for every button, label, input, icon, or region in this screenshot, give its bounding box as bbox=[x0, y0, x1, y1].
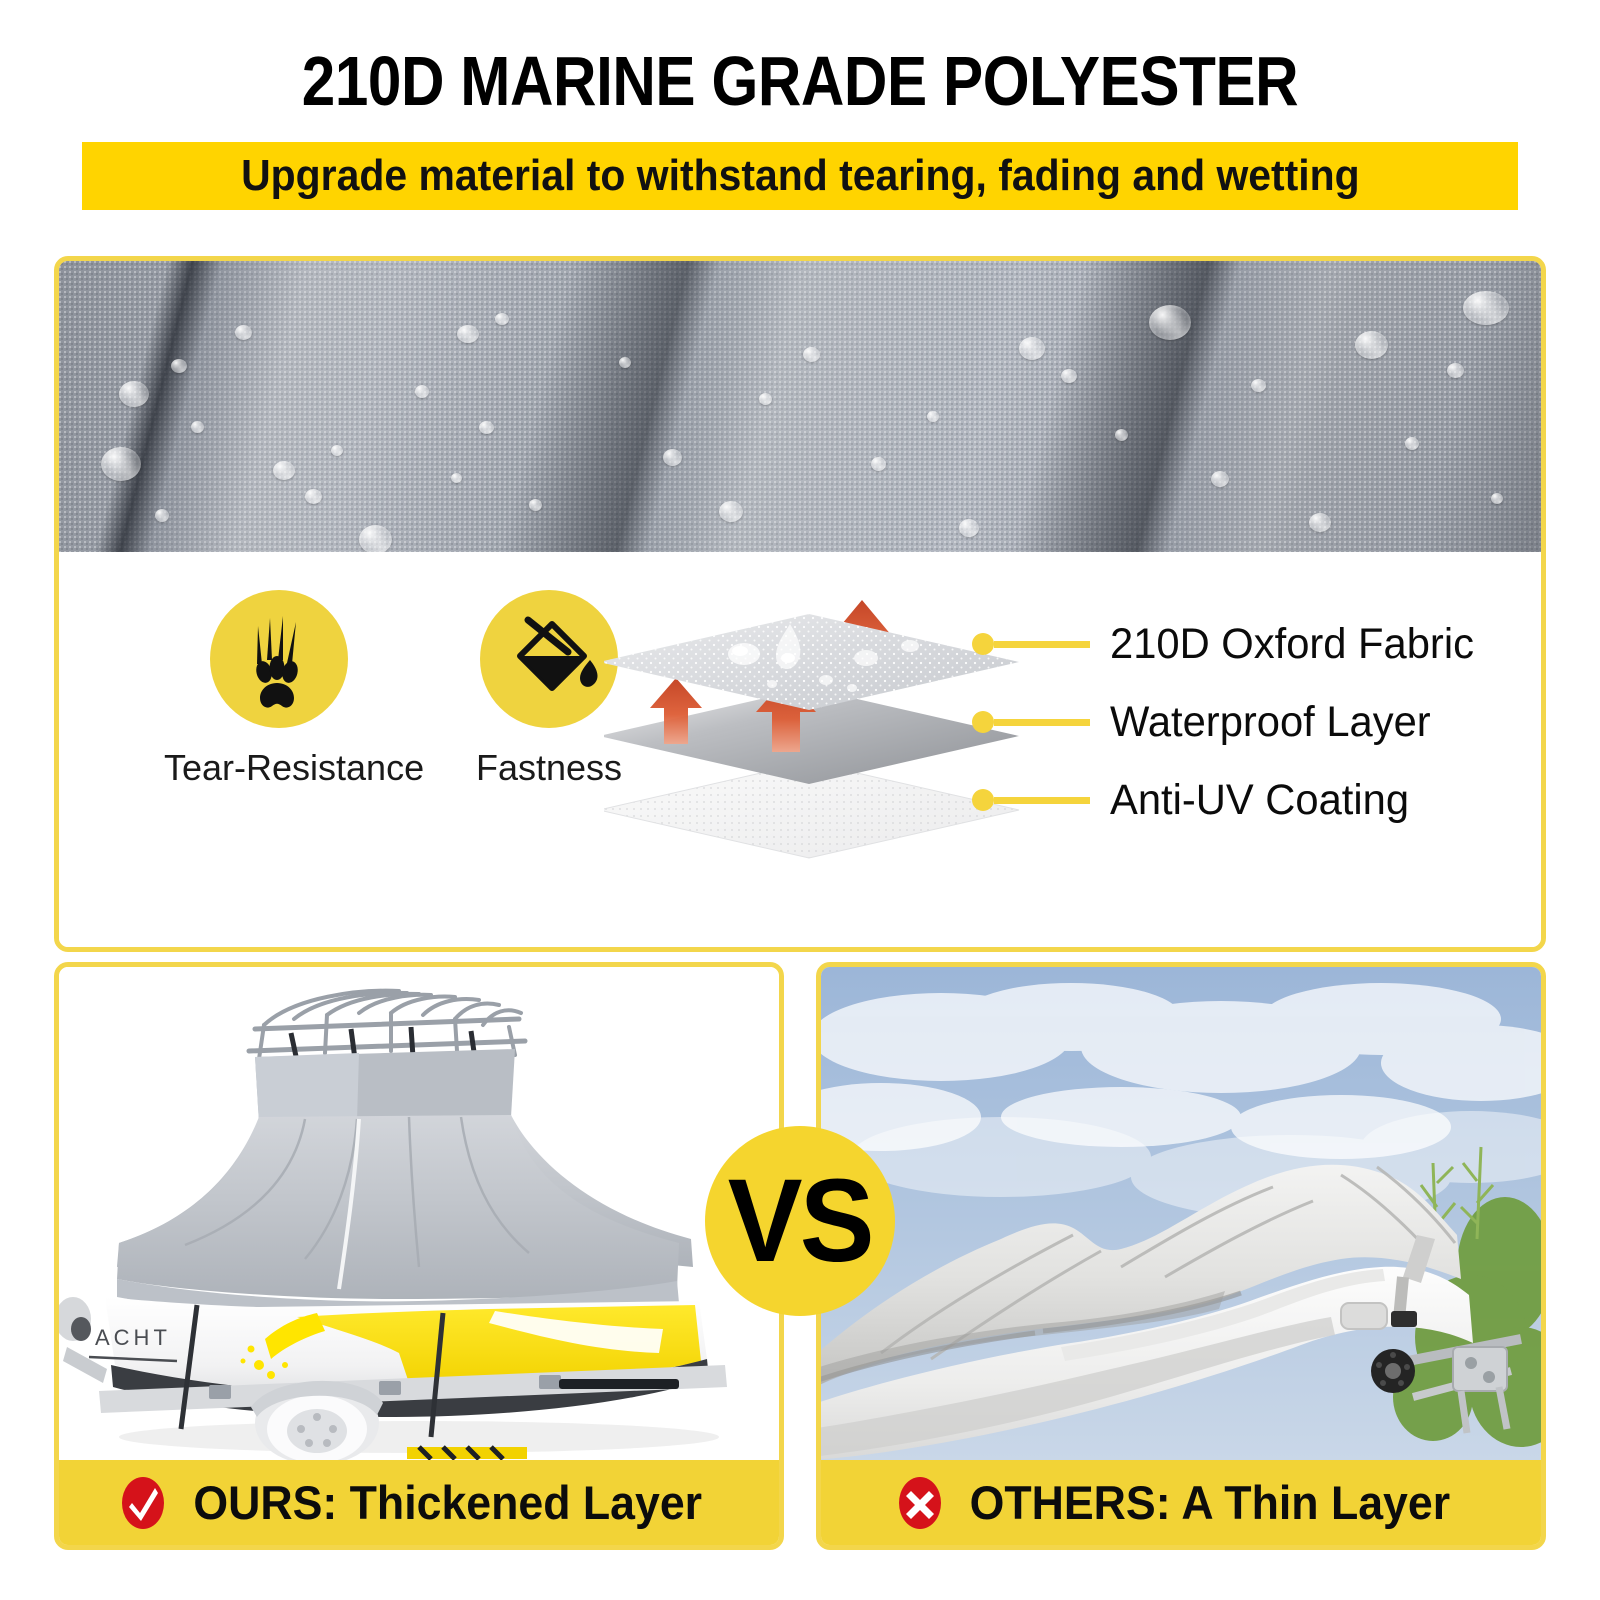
feature-circle-fastness bbox=[480, 590, 618, 728]
ours-label-text: OURS: Thickened Layer bbox=[194, 1478, 703, 1528]
check-badge-icon bbox=[122, 1477, 164, 1529]
ours-label-bar: OURS: Thickened Layer bbox=[59, 1460, 779, 1545]
layer-stack-illustration bbox=[604, 562, 1024, 872]
comparison-card-ours: ACHT bbox=[54, 962, 784, 1550]
callout-oxford-fabric: 210D Oxford Fabric bbox=[972, 624, 1485, 664]
header-subtitle-text: Upgrade material to withstand tearing, f… bbox=[241, 152, 1360, 200]
paw-claw-scratch-icon bbox=[210, 590, 348, 728]
callout-dot-icon bbox=[972, 789, 994, 811]
callout-dot-icon bbox=[972, 633, 994, 655]
callout-label-anti-uv-coating: Anti-UV Coating bbox=[1110, 777, 1409, 823]
three-layer-fabric-diagram bbox=[604, 562, 1024, 872]
callout-label-waterproof-layer: Waterproof Layer bbox=[1110, 699, 1431, 745]
callout-anti-uv-coating: Anti-UV Coating bbox=[972, 780, 1418, 820]
callout-waterproof-layer: Waterproof Layer bbox=[972, 702, 1441, 742]
vs-label: VS bbox=[728, 1161, 872, 1281]
thin-cover-boat-photo-illustration bbox=[821, 967, 1541, 1460]
svg-text:ACHT: ACHT bbox=[95, 1325, 171, 1350]
header-subtitle-banner: Upgrade material to withstand tearing, f… bbox=[82, 142, 1518, 210]
cross-badge-icon bbox=[899, 1477, 941, 1529]
ours-boat-photo: ACHT bbox=[59, 967, 779, 1460]
others-boat-photo bbox=[821, 967, 1541, 1460]
others-label-bar: OTHERS: A Thin Layer bbox=[821, 1460, 1541, 1545]
callout-line bbox=[994, 641, 1090, 648]
callout-line bbox=[994, 797, 1090, 804]
covered-boat-on-trailer-illustration: ACHT bbox=[59, 967, 779, 1460]
callout-dot-icon bbox=[972, 711, 994, 733]
material-showcase-card: Tear-Resistance Fastness bbox=[54, 256, 1546, 952]
fabric-macro-photo bbox=[59, 261, 1541, 552]
comparison-card-others: OTHERS: A Thin Layer bbox=[816, 962, 1546, 1550]
vs-badge: VS bbox=[705, 1126, 895, 1316]
others-label-text: OTHERS: A Thin Layer bbox=[970, 1478, 1450, 1528]
callout-label-oxford-fabric: 210D Oxford Fabric bbox=[1110, 621, 1474, 667]
feature-tear-resistance: Tear-Resistance bbox=[164, 590, 394, 788]
paint-bucket-pour-icon bbox=[480, 590, 618, 728]
callout-line bbox=[994, 719, 1090, 726]
feature-circle-tear-resistance bbox=[210, 590, 348, 728]
feature-strip: Tear-Resistance Fastness bbox=[59, 552, 1541, 947]
page-title: 210D MARINE GRADE POLYESTER bbox=[112, 44, 1488, 118]
feature-label-tear-resistance: Tear-Resistance bbox=[164, 748, 394, 788]
